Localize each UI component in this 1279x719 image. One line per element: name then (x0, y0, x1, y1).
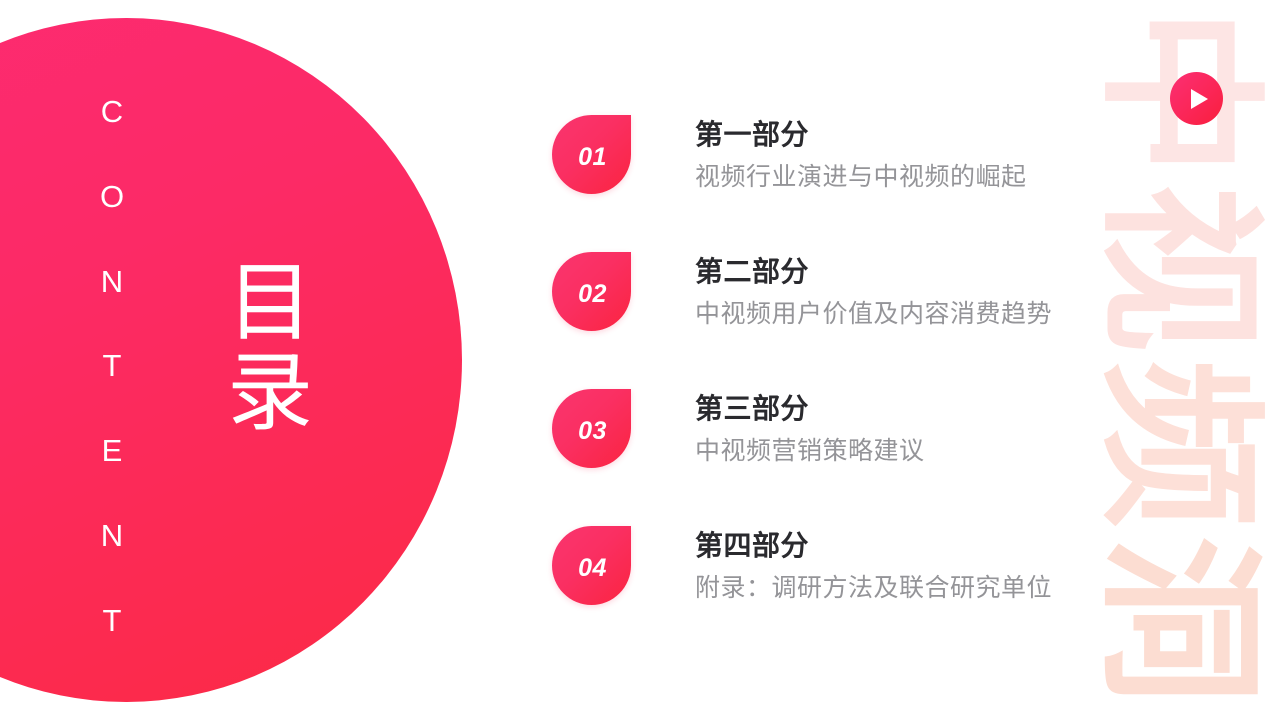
content-letter-c: C (101, 96, 123, 127)
content-vertical-word: C O N T E N T (84, 96, 140, 636)
toc-item-subtitle: 附录：调研方法及联合研究单位 (695, 572, 1052, 603)
toc-badge-03[interactable]: 03 (552, 389, 631, 468)
toc-item-01[interactable]: 01 第一部分 视频行业演进与中视频的崛起 (552, 86, 1112, 223)
toc-item-title: 第一部分 (695, 117, 1027, 152)
toc-badge-number: 03 (578, 417, 607, 446)
slide-canvas: C O N T E N T 目 录 01 第一部分 视频行业演进与中视频的崛起 … (0, 0, 1279, 719)
toc-badge-number: 04 (578, 554, 607, 583)
toc-item-title: 第四部分 (695, 528, 1052, 563)
page-title-char-lu: 录 (227, 348, 313, 438)
content-letter-e: E (102, 435, 123, 466)
decorative-char-shi: 视 (1089, 168, 1269, 368)
toc-text-01: 第一部分 视频行业演进与中视频的崛起 (695, 117, 1027, 192)
toc-text-03: 第三部分 中视频营销策略建议 (695, 391, 925, 466)
toc-item-03[interactable]: 03 第三部分 中视频营销策略建议 (552, 360, 1112, 497)
toc-item-subtitle: 中视频用户价值及内容消费趋势 (695, 298, 1052, 329)
decorative-char-dong: 洞 (1089, 520, 1269, 719)
toc-badge-02[interactable]: 02 (552, 252, 631, 331)
toc-item-04[interactable]: 04 第四部分 附录：调研方法及联合研究单位 (552, 497, 1112, 634)
toc-item-subtitle: 中视频营销策略建议 (695, 435, 925, 466)
toc-item-subtitle: 视频行业演进与中视频的崛起 (695, 161, 1027, 192)
content-letter-t1: T (103, 350, 122, 381)
toc-item-title: 第二部分 (695, 254, 1052, 289)
toc-item-title: 第三部分 (695, 391, 925, 426)
content-letter-t2: T (103, 605, 122, 636)
toc-item-02[interactable]: 02 第二部分 中视频用户价值及内容消费趋势 (552, 223, 1112, 360)
toc-badge-01[interactable]: 01 (552, 115, 631, 194)
toc-text-02: 第二部分 中视频用户价值及内容消费趋势 (695, 254, 1052, 329)
toc-badge-number: 01 (578, 143, 607, 172)
content-letter-n1: N (101, 266, 123, 297)
toc-badge-04[interactable]: 04 (552, 526, 631, 605)
play-triangle-icon (1191, 89, 1208, 109)
toc-text-04: 第四部分 附录：调研方法及联合研究单位 (695, 528, 1052, 603)
decorative-char-pin: 频 (1089, 344, 1269, 544)
toc-list: 01 第一部分 视频行业演进与中视频的崛起 02 第二部分 中视频用户价值及内容… (552, 86, 1112, 634)
toc-badge-number: 02 (578, 280, 607, 309)
content-letter-n2: N (101, 520, 123, 551)
content-letter-o: O (100, 181, 124, 212)
play-icon[interactable] (1170, 72, 1223, 125)
page-title-char-mu: 目 (227, 258, 313, 348)
page-title: 目 录 (222, 258, 318, 439)
